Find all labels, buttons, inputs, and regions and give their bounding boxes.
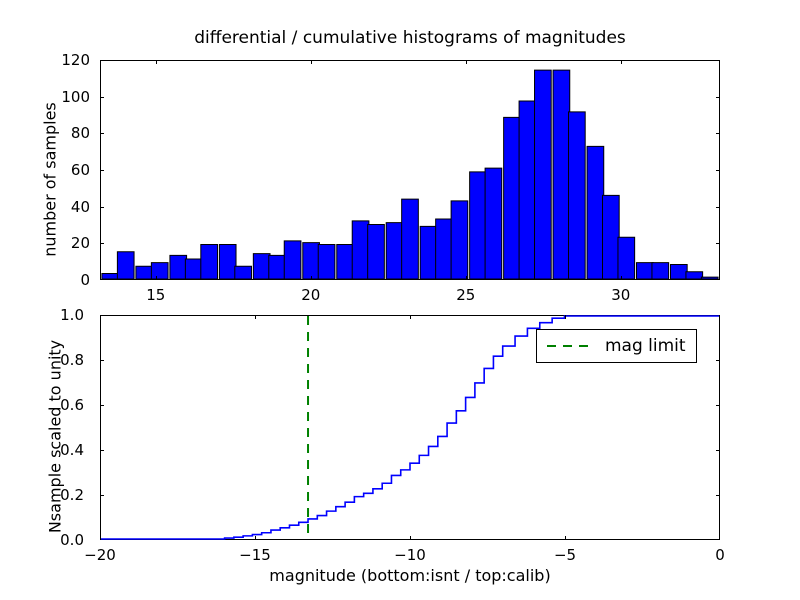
- tickmark-bot-x-n15: [255, 536, 256, 540]
- xtick-bot-n5: −5: [535, 546, 595, 564]
- tickmark-top-x-25: [466, 276, 467, 280]
- tickmark-top-x-30-top: [621, 60, 622, 64]
- tickmark-top-y-20: [100, 243, 104, 244]
- histogram-bar: [102, 274, 119, 279]
- histogram-bar: [337, 244, 354, 279]
- tickmark-bot-y-0p6-right: [716, 405, 720, 406]
- xtick-top-15: 15: [126, 286, 186, 304]
- axis-label-y-bottom: Nsample scaled to unity: [46, 312, 65, 562]
- histogram-bar: [136, 266, 153, 279]
- histogram-bar: [569, 112, 586, 279]
- histogram-bar: [519, 101, 536, 279]
- histogram-bar: [603, 195, 620, 279]
- tickmark-top-y-60-right: [716, 170, 720, 171]
- histogram-bar: [284, 241, 301, 279]
- axis-label-y-top: number of samples: [41, 70, 60, 290]
- histogram-bar: [117, 252, 134, 279]
- xtick-bot-0: 0: [690, 546, 750, 564]
- histogram-bar: [587, 146, 604, 279]
- histogram-bar: [318, 244, 335, 279]
- tickmark-bot-y-0p8: [100, 360, 104, 361]
- xtick-top-30: 30: [591, 286, 651, 304]
- figure-canvas: differential / cumulative histograms of …: [0, 0, 800, 600]
- histogram-bar: [386, 223, 403, 279]
- tickmark-bot-x-n10-top: [410, 315, 411, 319]
- mag-limit-line-icon: [545, 340, 591, 352]
- xtick-bot-n20: −20: [70, 546, 130, 564]
- histogram-bar: [652, 263, 669, 279]
- tickmark-top-x-15: [156, 276, 157, 280]
- histogram-bar: [485, 168, 502, 279]
- histogram-bar: [553, 70, 570, 279]
- tickmark-bot-y-0p4-right: [716, 450, 720, 451]
- histogram-bar: [402, 199, 419, 279]
- page-title: differential / cumulative histograms of …: [100, 28, 720, 48]
- histogram-bar: [504, 117, 521, 279]
- tickmark-top-x-20-top: [311, 60, 312, 64]
- tickmark-top-y-60: [100, 170, 104, 171]
- tickmark-bot-x-n10: [410, 536, 411, 540]
- tickmark-bot-y-0p4: [100, 450, 104, 451]
- histogram-bar: [470, 172, 487, 279]
- xtick-bot-n15: −15: [225, 546, 285, 564]
- histogram-bar: [670, 264, 687, 279]
- tickmark-bot-x-n5: [565, 536, 566, 540]
- histogram-bar: [436, 219, 453, 279]
- xtick-top-25: 25: [436, 286, 496, 304]
- tickmark-bot-x-n5-top: [565, 315, 566, 319]
- histogram-bar: [535, 70, 552, 279]
- histogram-bar: [686, 272, 703, 279]
- tickmark-top-y-100: [100, 97, 104, 98]
- axis-label-x-bottom: magnitude (bottom:isnt / top:calib): [100, 566, 720, 585]
- histogram-bar: [170, 255, 187, 279]
- xtick-top-20: 20: [281, 286, 341, 304]
- tickmark-bot-x-0-top: [719, 315, 720, 319]
- tickmark-bot-x-0: [719, 536, 720, 540]
- histogram-bar: [420, 226, 437, 279]
- tickmark-top-x-30: [621, 276, 622, 280]
- histogram-bar: [636, 263, 653, 279]
- histogram-bar: [201, 244, 218, 279]
- histogram-bar: [151, 263, 168, 279]
- tickmark-top-y-40: [100, 207, 104, 208]
- histogram-bar: [253, 254, 270, 279]
- tickmark-bot-y-0p8-right: [716, 360, 720, 361]
- histogram-bar: [451, 201, 468, 279]
- xtick-bot-n10: −10: [380, 546, 440, 564]
- tickmark-top-y-80-right: [716, 133, 720, 134]
- tickmark-top-x-25-top: [466, 60, 467, 64]
- histogram-bar: [235, 266, 252, 279]
- differential-histogram-axes: [100, 60, 720, 280]
- histogram-bar: [368, 225, 385, 280]
- tickmark-top-y-20-right: [716, 243, 720, 244]
- tickmark-top-y-100-right: [716, 97, 720, 98]
- tickmark-bot-x-n15-top: [255, 315, 256, 319]
- tickmark-bot-x-n20: [100, 536, 101, 540]
- tickmark-top-y-40-right: [716, 207, 720, 208]
- legend-label-mag-limit: mag limit: [605, 336, 686, 356]
- tickmark-top-x-20: [311, 276, 312, 280]
- histogram-bar: [219, 244, 236, 279]
- tickmark-top-x-15-top: [156, 60, 157, 64]
- differential-histogram-plot: [101, 61, 719, 279]
- ytick-top-120: 120: [50, 51, 90, 69]
- histogram-bar: [185, 259, 202, 279]
- tickmark-bot-y-0p6: [100, 405, 104, 406]
- histogram-bars: [102, 70, 718, 279]
- histogram-bar: [618, 237, 635, 279]
- tickmark-bot-x-n20-top: [100, 315, 101, 319]
- histogram-bar: [701, 277, 718, 279]
- tickmark-bot-y-0p2-right: [716, 495, 720, 496]
- histogram-bar: [352, 221, 369, 279]
- histogram-bar: [269, 255, 286, 279]
- legend[interactable]: mag limit: [536, 329, 697, 363]
- tickmark-top-y-80: [100, 133, 104, 134]
- tickmark-bot-y-0p2: [100, 495, 104, 496]
- histogram-bar: [303, 243, 320, 279]
